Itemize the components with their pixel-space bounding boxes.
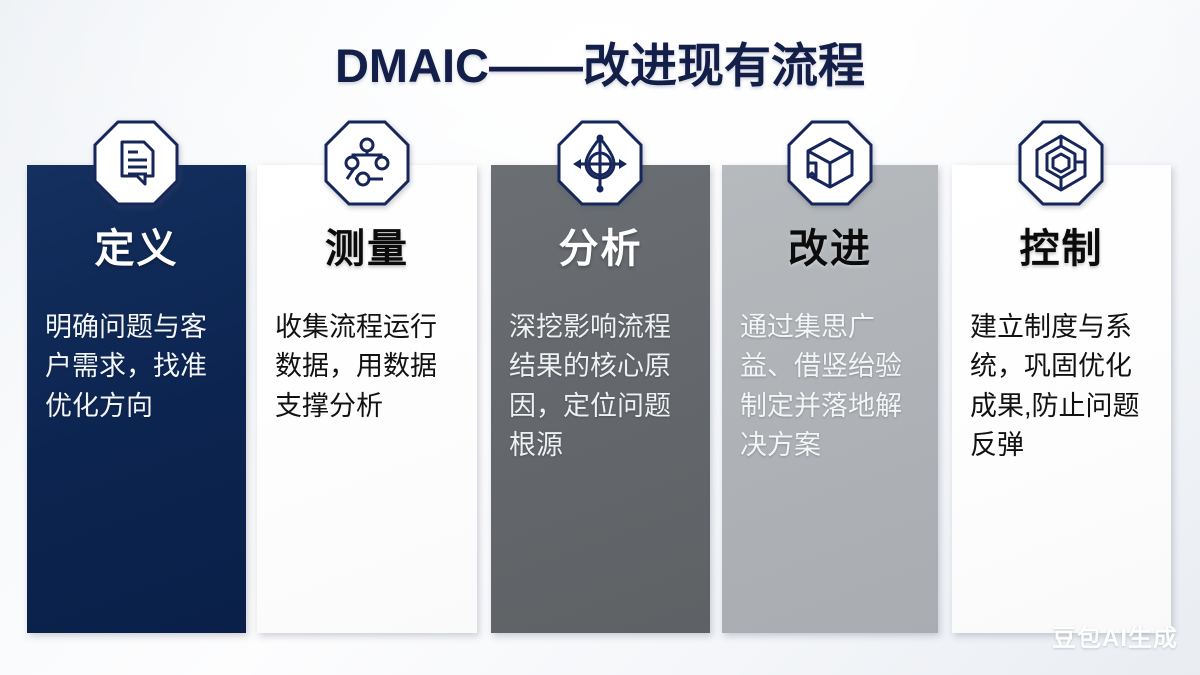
dmaic-card-row: 定义 明确问题与客户需求，找准优化方向 测量 收集流程运行数据，用数据支撑分析 …: [0, 0, 1200, 675]
card-improve-title: 改进: [740, 228, 920, 270]
card-analyze-content: 分析 深挖影响流程结果的核心原因，定位问题根源: [491, 228, 710, 466]
document-note-icon: [92, 119, 180, 207]
gear-hexagon-icon: [1017, 119, 1105, 207]
card-define[interactable]: 定义 明确问题与客户需求，找准优化方向: [27, 165, 246, 633]
card-control-title: 控制: [970, 228, 1153, 270]
card-measure-body: 收集流程运行数据，用数据支撑分析: [275, 308, 459, 426]
card-analyze-title: 分析: [509, 228, 692, 270]
card-analyze-body: 深挖影响流程结果的核心原因，定位问题根源: [509, 308, 692, 466]
card-improve[interactable]: 改进 通过集思广益、借竖绐验制定并落地解决方案: [722, 165, 938, 633]
target-focus-icon: [556, 119, 644, 207]
card-control[interactable]: 控制 建立制度与系统，巩固优化成果,防止问题反弹: [952, 165, 1171, 633]
card-improve-content: 改进 通过集思广益、借竖绐验制定并落地解决方案: [722, 228, 938, 466]
card-measure[interactable]: 测量 收集流程运行数据，用数据支撑分析: [257, 165, 477, 633]
ai-watermark: 豆包AI生成: [1052, 618, 1178, 653]
card-define-body: 明确问题与客户需求，找准优化方向: [45, 308, 228, 426]
card-measure-content: 测量 收集流程运行数据，用数据支撑分析: [257, 228, 477, 426]
card-analyze[interactable]: 分析 深挖影响流程结果的核心原因，定位问题根源: [491, 165, 710, 633]
cube-box-icon: [786, 119, 874, 207]
card-define-content: 定义 明确问题与客户需求，找准优化方向: [27, 228, 246, 426]
card-control-body: 建立制度与系统，巩固优化成果,防止问题反弹: [970, 308, 1153, 466]
network-nodes-icon: [323, 119, 411, 207]
card-measure-title: 测量: [275, 228, 459, 270]
card-define-title: 定义: [45, 228, 228, 270]
card-control-content: 控制 建立制度与系统，巩固优化成果,防止问题反弹: [952, 228, 1171, 466]
card-improve-body: 通过集思广益、借竖绐验制定并落地解决方案: [740, 308, 920, 466]
